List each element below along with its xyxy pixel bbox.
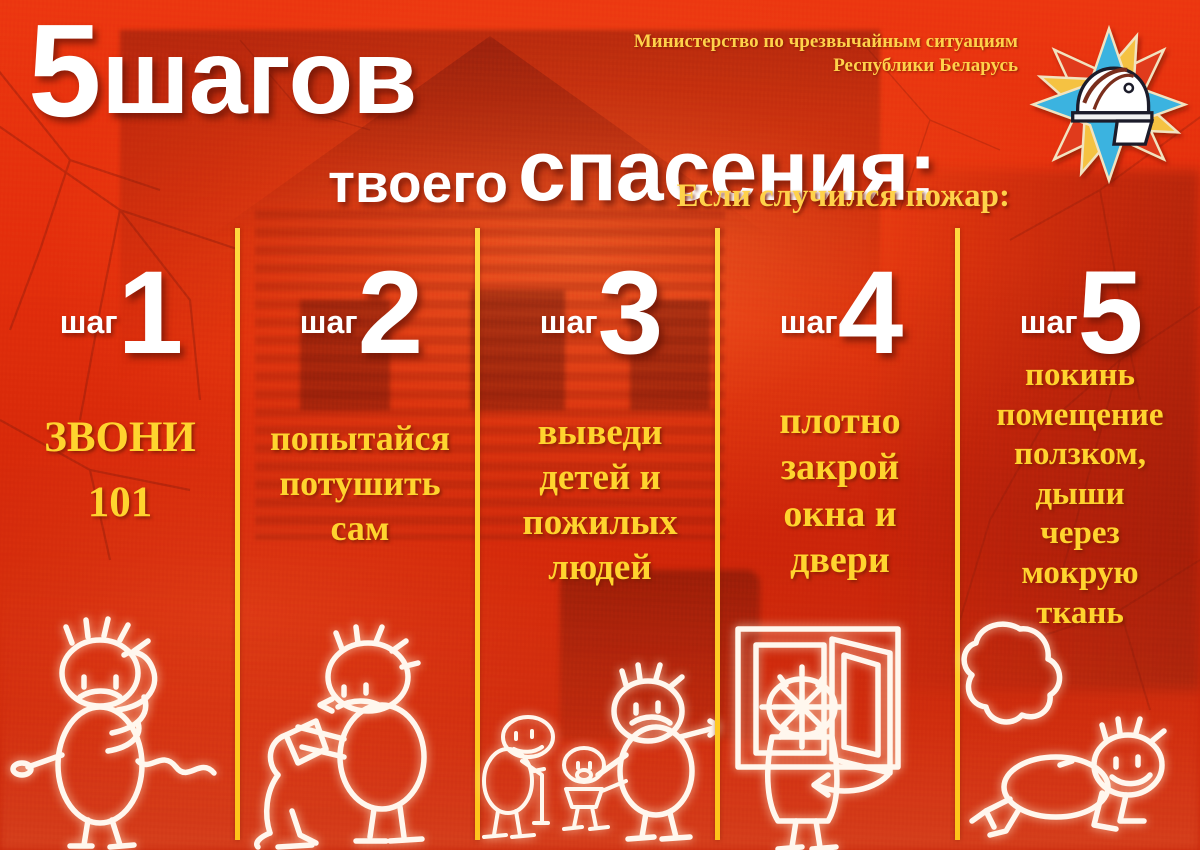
step-3-illustration (480, 615, 720, 850)
step-2-text-line-3: сам (248, 506, 472, 551)
step-column-2: шаг 2 попытайся потушить сам (240, 228, 480, 850)
adult-leading-child-and-elder-icon (480, 615, 720, 850)
step-2-illustration (240, 615, 480, 850)
step-4-text-line-4: двери (728, 537, 952, 583)
person-extinguishing-fire-icon (240, 615, 480, 850)
step-5-text-line-1: покинь (968, 356, 1192, 396)
title-word-shagov: шагов (101, 32, 416, 123)
ministry-line-2: Республики Беларусь (634, 54, 1018, 78)
step-2-text-line-2: потушить (248, 461, 472, 506)
step-4-text-line-3: окна и (728, 491, 952, 537)
step-3-text-line-4: людей (488, 545, 712, 590)
ministry-caption: Министерство по чрезвычайным ситуациям Р… (634, 30, 1018, 78)
step-2-word: шаг (300, 304, 358, 341)
step-1-number: 1 (118, 267, 181, 359)
step-2-text-line-1: попытайся (248, 416, 472, 461)
step-3-text-line-2: детей и (488, 455, 712, 500)
ministry-line-1: Министерство по чрезвычайным ситуациям (634, 30, 1018, 54)
steps-container: шаг 1 ЗВОНИ 101 (0, 228, 1200, 850)
fire-safety-poster: 5 шагов твоего спасения: Министерство по… (0, 0, 1200, 850)
step-5-text-line-3: ползком, (968, 435, 1192, 475)
step-3-word: шаг (540, 304, 598, 341)
step-4-text: плотно закрой окна и двери (728, 398, 952, 583)
step-4-heading: шаг 4 (720, 234, 960, 359)
step-1-text: ЗВОНИ 101 (8, 406, 232, 535)
step-3-text: выведи детей и пожилых людей (488, 410, 712, 591)
step-4-text-line-2: закрой (728, 444, 952, 490)
step-5-text: покинь помещение ползком, дыши через мок… (968, 356, 1192, 633)
title-big-number: 5 (28, 14, 99, 128)
person-calling-phone-icon (0, 615, 240, 850)
step-5-text-line-2: помещение (968, 396, 1192, 436)
step-1-text-line-2: 101 (8, 471, 232, 536)
poster-header: 5 шагов твоего спасения: Министерство по… (0, 0, 1200, 225)
step-column-3: шаг 3 выведи детей и пожилых людей (480, 228, 720, 850)
step-column-1: шаг 1 ЗВОНИ 101 (0, 228, 240, 850)
subtitle: Если случился пожар: (677, 178, 1010, 215)
step-2-text: попытайся потушить сам (248, 416, 472, 551)
step-3-text-line-3: пожилых (488, 500, 712, 545)
person-crawling-through-smoke-icon (960, 615, 1200, 850)
step-3-number: 3 (598, 267, 661, 359)
step-2-number: 2 (358, 267, 421, 359)
step-3-text-line-1: выведи (488, 410, 712, 455)
step-4-number: 4 (838, 267, 901, 359)
step-5-text-line-5: через (968, 514, 1192, 554)
step-5-number: 5 (1078, 267, 1141, 359)
step-column-5: шаг 5 покинь помещение ползком, дыши чер… (960, 228, 1200, 850)
step-3-heading: шаг 3 (480, 234, 720, 359)
step-1-text-line-1: ЗВОНИ (8, 406, 232, 471)
step-4-word: шаг (780, 304, 838, 341)
step-1-word: шаг (60, 304, 118, 341)
step-5-illustration (960, 615, 1200, 850)
mchs-belarus-emblem-icon (1024, 22, 1194, 187)
step-2-heading: шаг 2 (240, 234, 480, 359)
step-4-text-line-1: плотно (728, 398, 952, 444)
person-closing-window-icon (720, 615, 960, 850)
step-column-4: шаг 4 плотно закрой окна и двери (720, 228, 960, 850)
step-5-word: шаг (1020, 304, 1078, 341)
step-5-text-line-6: мокрую (968, 554, 1192, 594)
step-1-heading: шаг 1 (0, 234, 240, 359)
title-word-tvoego: твоего (328, 151, 508, 215)
step-1-illustration (0, 615, 240, 850)
step-5-heading: шаг 5 (960, 234, 1200, 359)
step-4-illustration (720, 615, 960, 850)
step-5-text-line-4: дыши (968, 475, 1192, 515)
